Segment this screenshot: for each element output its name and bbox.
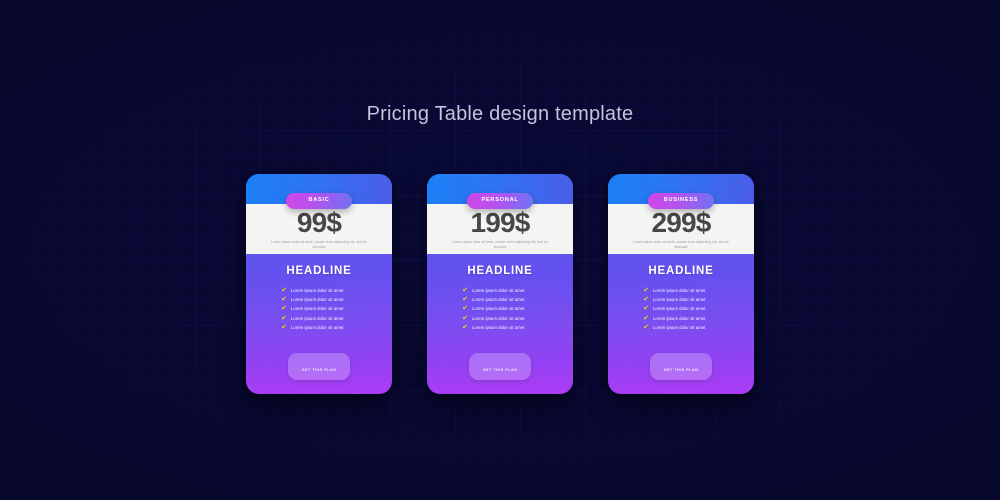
feature-label: Lorem ipsum dolor sit amet — [472, 326, 525, 330]
get-this-plan-label: GET THIS PLAN — [302, 368, 337, 372]
plan-badge: PERSONAL — [467, 193, 533, 209]
price-panel: 99$ Lorem ipsum dolor sit amet, consec t… — [246, 204, 392, 254]
plan-price: 199$ — [470, 209, 529, 237]
feature-label: Lorem ipsum dolor sit amet — [653, 307, 706, 311]
check-icon: ✔ — [643, 306, 649, 312]
plan-headline: HEADLINE — [648, 265, 713, 277]
feature-row: ✔ Lorem ipsum dolor sit amet — [643, 297, 754, 303]
check-icon: ✔ — [643, 288, 649, 294]
plan-badge-label: PERSONAL — [467, 198, 533, 204]
check-icon: ✔ — [643, 316, 649, 322]
pricing-card-business[interactable]: BUSINESS 299$ Lorem ipsum dolor sit amet… — [608, 174, 754, 394]
page-title: Pricing Table design template — [0, 103, 1000, 126]
feature-label: Lorem ipsum dolor sit amet — [653, 326, 706, 330]
feature-row: ✔ Lorem ipsum dolor sit amet — [462, 325, 573, 331]
price-panel: 199$ Lorem ipsum dolor sit amet, consec … — [427, 204, 573, 254]
check-icon: ✔ — [462, 325, 468, 331]
check-icon: ✔ — [643, 325, 649, 331]
card-body: HEADLINE ✔ Lorem ipsum dolor sit amet ✔ … — [246, 254, 392, 394]
feature-label: Lorem ipsum dolor sit amet — [291, 298, 344, 302]
check-icon: ✔ — [462, 297, 468, 303]
pricing-page: Pricing Table design template BASIC 99$ … — [0, 0, 1000, 500]
feature-row: ✔ Lorem ipsum dolor sit amet — [643, 325, 754, 331]
feature-label: Lorem ipsum dolor sit amet — [291, 307, 344, 311]
feature-row: ✔ Lorem ipsum dolor sit amet — [281, 288, 392, 294]
feature-label: Lorem ipsum dolor sit amet — [291, 289, 344, 293]
feature-row: ✔ Lorem ipsum dolor sit amet — [462, 306, 573, 312]
check-icon: ✔ — [281, 297, 287, 303]
feature-list: ✔ Lorem ipsum dolor sit amet ✔ Lorem ips… — [608, 288, 754, 334]
feature-label: Lorem ipsum dolor sit amet — [472, 307, 525, 311]
plan-description: Lorem ipsum dolor sit amet, consec tetur… — [267, 240, 371, 250]
get-this-plan-button[interactable]: GET THIS PLAN — [288, 353, 350, 380]
plan-description: Lorem ipsum dolor sit amet, consec tetur… — [629, 240, 733, 250]
plan-badge-label: BASIC — [286, 198, 352, 204]
feature-row: ✔ Lorem ipsum dolor sit amet — [643, 306, 754, 312]
check-icon: ✔ — [462, 306, 468, 312]
feature-row: ✔ Lorem ipsum dolor sit amet — [462, 297, 573, 303]
feature-row: ✔ Lorem ipsum dolor sit amet — [643, 288, 754, 294]
feature-label: Lorem ipsum dolor sit amet — [653, 298, 706, 302]
plan-badge: BUSINESS — [648, 193, 714, 209]
check-icon: ✔ — [281, 316, 287, 322]
feature-row: ✔ Lorem ipsum dolor sit amet — [281, 297, 392, 303]
plan-description: Lorem ipsum dolor sit amet, consec tetur… — [448, 240, 552, 250]
feature-row: ✔ Lorem ipsum dolor sit amet — [643, 316, 754, 322]
check-icon: ✔ — [462, 316, 468, 322]
plan-headline: HEADLINE — [467, 265, 532, 277]
plan-price: 299$ — [651, 209, 710, 237]
plan-headline: HEADLINE — [286, 265, 351, 277]
feature-row: ✔ Lorem ipsum dolor sit amet — [281, 325, 392, 331]
plan-badge-label: BUSINESS — [648, 198, 714, 204]
feature-label: Lorem ipsum dolor sit amet — [653, 317, 706, 321]
feature-row: ✔ Lorem ipsum dolor sit amet — [281, 306, 392, 312]
feature-row: ✔ Lorem ipsum dolor sit amet — [281, 316, 392, 322]
feature-label: Lorem ipsum dolor sit amet — [653, 289, 706, 293]
feature-list: ✔ Lorem ipsum dolor sit amet ✔ Lorem ips… — [427, 288, 573, 334]
feature-label: Lorem ipsum dolor sit amet — [291, 326, 344, 330]
check-icon: ✔ — [643, 297, 649, 303]
pricing-card-personal[interactable]: PERSONAL 199$ Lorem ipsum dolor sit amet… — [427, 174, 573, 394]
pricing-card-list: BASIC 99$ Lorem ipsum dolor sit amet, co… — [0, 174, 1000, 396]
feature-row: ✔ Lorem ipsum dolor sit amet — [462, 316, 573, 322]
feature-label: Lorem ipsum dolor sit amet — [472, 317, 525, 321]
feature-list: ✔ Lorem ipsum dolor sit amet ✔ Lorem ips… — [246, 288, 392, 334]
get-this-plan-label: GET THIS PLAN — [664, 368, 699, 372]
plan-price: 99$ — [297, 209, 341, 237]
card-body: HEADLINE ✔ Lorem ipsum dolor sit amet ✔ … — [608, 254, 754, 394]
plan-badge: BASIC — [286, 193, 352, 209]
check-icon: ✔ — [281, 288, 287, 294]
get-this-plan-button[interactable]: GET THIS PLAN — [469, 353, 531, 380]
check-icon: ✔ — [462, 288, 468, 294]
get-this-plan-label: GET THIS PLAN — [483, 368, 518, 372]
feature-label: Lorem ipsum dolor sit amet — [472, 298, 525, 302]
feature-label: Lorem ipsum dolor sit amet — [472, 289, 525, 293]
get-this-plan-button[interactable]: GET THIS PLAN — [650, 353, 712, 380]
check-icon: ✔ — [281, 325, 287, 331]
card-body: HEADLINE ✔ Lorem ipsum dolor sit amet ✔ … — [427, 254, 573, 394]
feature-row: ✔ Lorem ipsum dolor sit amet — [462, 288, 573, 294]
price-panel: 299$ Lorem ipsum dolor sit amet, consec … — [608, 204, 754, 254]
pricing-card-basic[interactable]: BASIC 99$ Lorem ipsum dolor sit amet, co… — [246, 174, 392, 394]
feature-label: Lorem ipsum dolor sit amet — [291, 317, 344, 321]
check-icon: ✔ — [281, 306, 287, 312]
